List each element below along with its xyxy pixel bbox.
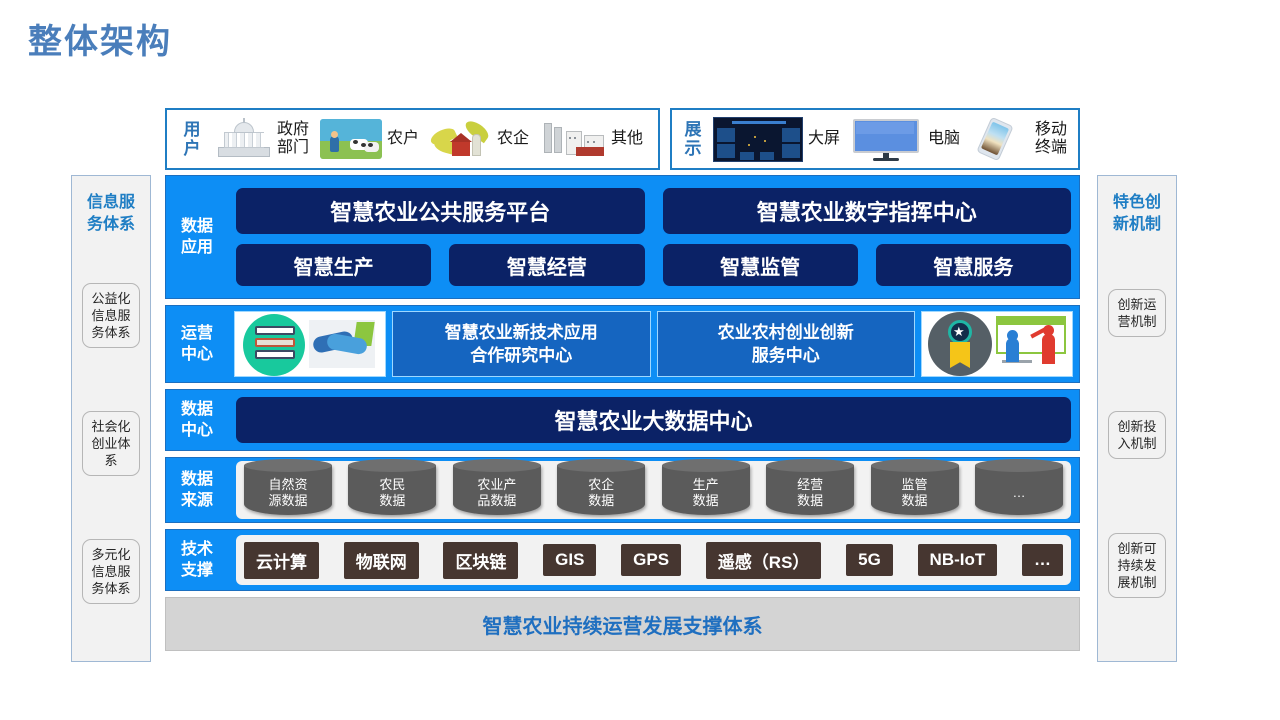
left-panel: 信息服务体系 公益化信息服务体系 社会化创业体系 多元化信息服务体系: [71, 175, 151, 662]
display-item-bigscreen[interactable]: 大屏: [708, 110, 846, 168]
users-label: 用户: [177, 120, 207, 158]
support-system-bar: 智慧农业持续运营发展支撑体系: [165, 597, 1080, 651]
right-panel-title: 特色创新机制: [1113, 192, 1161, 236]
database-cylinder-production[interactable]: 生产数据: [662, 465, 750, 515]
app-card-service[interactable]: 智慧服务: [876, 244, 1071, 286]
database-cylinder-farmer[interactable]: 农民数据: [348, 465, 436, 515]
left-panel-item-3[interactable]: 多元化信息服务体系: [82, 539, 140, 604]
top-row: 用户 政府部门 农户: [165, 108, 1080, 170]
agriculture-enterprise-icon: [430, 119, 492, 159]
display-item-label: 大屏: [807, 130, 841, 148]
layer-data-source-label: 数据来源: [166, 469, 228, 511]
display-item-mobile[interactable]: 移动终端: [966, 110, 1078, 168]
tech-chip-cloud[interactable]: 云计算: [244, 542, 319, 579]
tech-chip-gis[interactable]: GIS: [543, 544, 596, 576]
right-panel-item-1[interactable]: 创新运营机制: [1108, 289, 1166, 337]
layer-data-source: 数据来源 自然资源数据 农民数据 农业产品数据 农企数据: [165, 457, 1080, 523]
left-panel-title: 信息服务体系: [87, 192, 135, 236]
database-cylinder-more[interactable]: …: [975, 465, 1063, 515]
monitor-icon: [851, 117, 923, 162]
layer-tech-support: 技术支撑 云计算 物联网 区块链 GIS GPS 遥感（RS） 5G NB-Io…: [165, 529, 1080, 591]
layer-operation-center: 运营中心 智慧农业新技术应用合作研究中心 农业农村创业创新服务中心: [165, 305, 1080, 383]
layer-data-center: 数据中心 智慧农业大数据中心: [165, 389, 1080, 451]
user-item-label: 农户: [386, 130, 420, 148]
right-panel: 特色创新机制 创新运营机制 创新投入机制 创新可持续发展机制: [1097, 175, 1177, 662]
tech-chip-nbiot[interactable]: NB-IoT: [918, 544, 998, 576]
cylinder-top-icon: [975, 459, 1063, 472]
user-item-enterprise[interactable]: 农企: [425, 110, 535, 168]
tech-chip-iot[interactable]: 物联网: [344, 542, 419, 579]
tech-chip-5g[interactable]: 5G: [846, 544, 893, 576]
tech-chip-remote-sensing[interactable]: 遥感（RS）: [706, 542, 822, 579]
tech-chip-blockchain[interactable]: 区块链: [443, 542, 518, 579]
farm-cow-icon: [320, 119, 382, 159]
layer-tech-support-label: 技术支撑: [166, 539, 228, 581]
database-cylinder-enterprise[interactable]: 农企数据: [557, 465, 645, 515]
layer-operation-center-label: 运营中心: [166, 323, 228, 365]
user-item-other[interactable]: 其他: [535, 110, 649, 168]
right-panel-items: 创新运营机制 创新投入机制 创新可持续发展机制: [1108, 236, 1166, 661]
factory-icon: [540, 119, 606, 159]
award-training-illustration: ★: [921, 311, 1073, 377]
app-platform-card[interactable]: 智慧农业公共服务平台: [236, 188, 645, 234]
app-card-operation[interactable]: 智慧经营: [449, 244, 644, 286]
ops-card-research-center[interactable]: 智慧农业新技术应用合作研究中心: [392, 311, 651, 377]
display-box: 展示 大屏 电脑: [670, 108, 1080, 170]
database-cylinder-supervision[interactable]: 监管数据: [871, 465, 959, 515]
big-data-center-card[interactable]: 智慧农业大数据中心: [236, 397, 1071, 443]
government-building-icon: [216, 119, 272, 159]
layer-data-application: 数据应用 智慧农业公共服务平台 智慧农业数字指挥中心 智慧生产 智慧经营 智慧监…: [165, 175, 1080, 299]
left-panel-item-1[interactable]: 公益化信息服务体系: [82, 283, 140, 348]
left-panel-items: 公益化信息服务体系 社会化创业体系 多元化信息服务体系: [82, 236, 140, 661]
user-item-label: 其他: [610, 130, 644, 148]
app-command-center-card[interactable]: 智慧农业数字指挥中心: [663, 188, 1072, 234]
right-panel-item-2[interactable]: 创新投入机制: [1108, 411, 1166, 459]
tech-chip-more[interactable]: …: [1022, 544, 1063, 576]
mobile-phone-icon: [971, 118, 1025, 160]
database-cylinder-natural-resource[interactable]: 自然资源数据: [244, 465, 332, 515]
database-cylinder-operation[interactable]: 经营数据: [766, 465, 854, 515]
left-panel-item-2[interactable]: 社会化创业体系: [82, 411, 140, 476]
user-item-label: 政府部门: [276, 121, 310, 157]
books-handshake-illustration: [234, 311, 386, 377]
big-screen-dashboard-icon: [713, 117, 803, 162]
user-item-label: 农企: [496, 130, 530, 148]
tech-chip-gps[interactable]: GPS: [621, 544, 681, 576]
database-cylinder-product[interactable]: 农业产品数据: [453, 465, 541, 515]
users-box: 用户 政府部门 农户: [165, 108, 660, 170]
app-card-production[interactable]: 智慧生产: [236, 244, 431, 286]
app-card-supervision[interactable]: 智慧监管: [663, 244, 858, 286]
display-label: 展示: [682, 120, 704, 158]
display-item-label: 移动终端: [1029, 121, 1073, 157]
display-item-computer[interactable]: 电脑: [846, 110, 966, 168]
layer-data-application-label: 数据应用: [166, 176, 228, 298]
right-panel-item-3[interactable]: 创新可持续发展机制: [1108, 533, 1166, 598]
page-title: 整体架构: [28, 14, 172, 63]
display-item-label: 电脑: [927, 130, 961, 148]
user-item-government[interactable]: 政府部门: [211, 110, 315, 168]
ops-card-innovation-service[interactable]: 农业农村创业创新服务中心: [657, 311, 916, 377]
architecture-stack: 数据应用 智慧农业公共服务平台 智慧农业数字指挥中心 智慧生产 智慧经营 智慧监…: [165, 175, 1080, 662]
user-item-farmer[interactable]: 农户: [315, 110, 425, 168]
layer-data-center-label: 数据中心: [166, 399, 228, 441]
